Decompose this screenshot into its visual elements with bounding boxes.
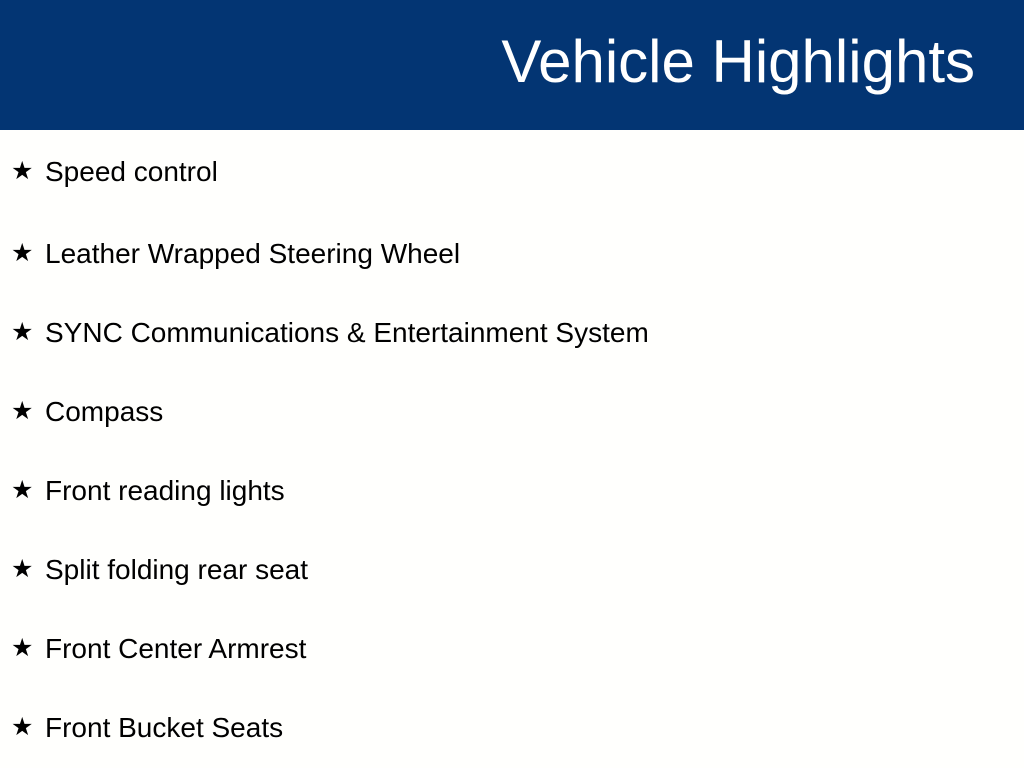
list-item: ★ Leather Wrapped Steering Wheel <box>0 215 1024 294</box>
slide-header-bar: Vehicle Highlights <box>0 0 1024 130</box>
star-bullet-icon: ★ <box>11 636 45 661</box>
star-bullet-icon: ★ <box>11 320 45 345</box>
vehicle-highlights-slide: Vehicle Highlights ★ Speed control ★ Lea… <box>0 0 1024 768</box>
list-item: ★ Speed control <box>0 130 1024 215</box>
star-bullet-icon: ★ <box>11 715 45 740</box>
list-item: ★ Front Center Armrest <box>0 610 1024 689</box>
star-bullet-icon: ★ <box>11 399 45 424</box>
feature-label: Front Bucket Seats <box>45 712 283 744</box>
star-bullet-icon: ★ <box>11 159 45 184</box>
list-item: ★ Compass <box>0 373 1024 452</box>
list-item: ★ Front Bucket Seats <box>0 689 1024 768</box>
list-item: ★ SYNC Communications & Entertainment Sy… <box>0 294 1024 373</box>
page-title: Vehicle Highlights <box>501 32 975 92</box>
feature-label: Front reading lights <box>45 475 285 507</box>
feature-label: Compass <box>45 396 163 428</box>
feature-label: Leather Wrapped Steering Wheel <box>45 238 460 270</box>
star-bullet-icon: ★ <box>11 557 45 582</box>
feature-label: SYNC Communications & Entertainment Syst… <box>45 317 649 349</box>
list-item: ★ Front reading lights <box>0 452 1024 531</box>
star-bullet-icon: ★ <box>11 241 45 266</box>
list-item: ★ Split folding rear seat <box>0 531 1024 610</box>
feature-label: Split folding rear seat <box>45 554 308 586</box>
star-bullet-icon: ★ <box>11 478 45 503</box>
vehicle-feature-list: ★ Speed control ★ Leather Wrapped Steeri… <box>0 130 1024 768</box>
feature-label: Front Center Armrest <box>45 633 306 665</box>
feature-label: Speed control <box>45 156 218 188</box>
